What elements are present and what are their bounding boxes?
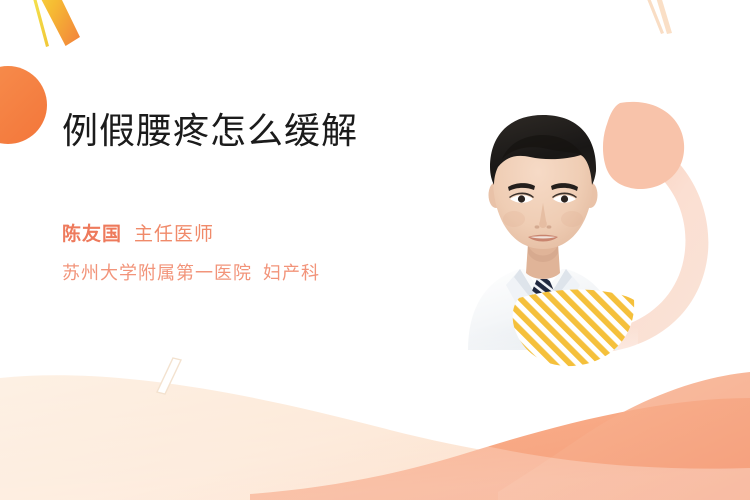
doctor-article-banner: 例假腰疼怎么缓解 陈友国主任医师 苏州大学附属第一医院妇产科 [0,0,750,500]
striped-half-disc [500,280,650,380]
striped-half-disc-layer [0,0,750,500]
